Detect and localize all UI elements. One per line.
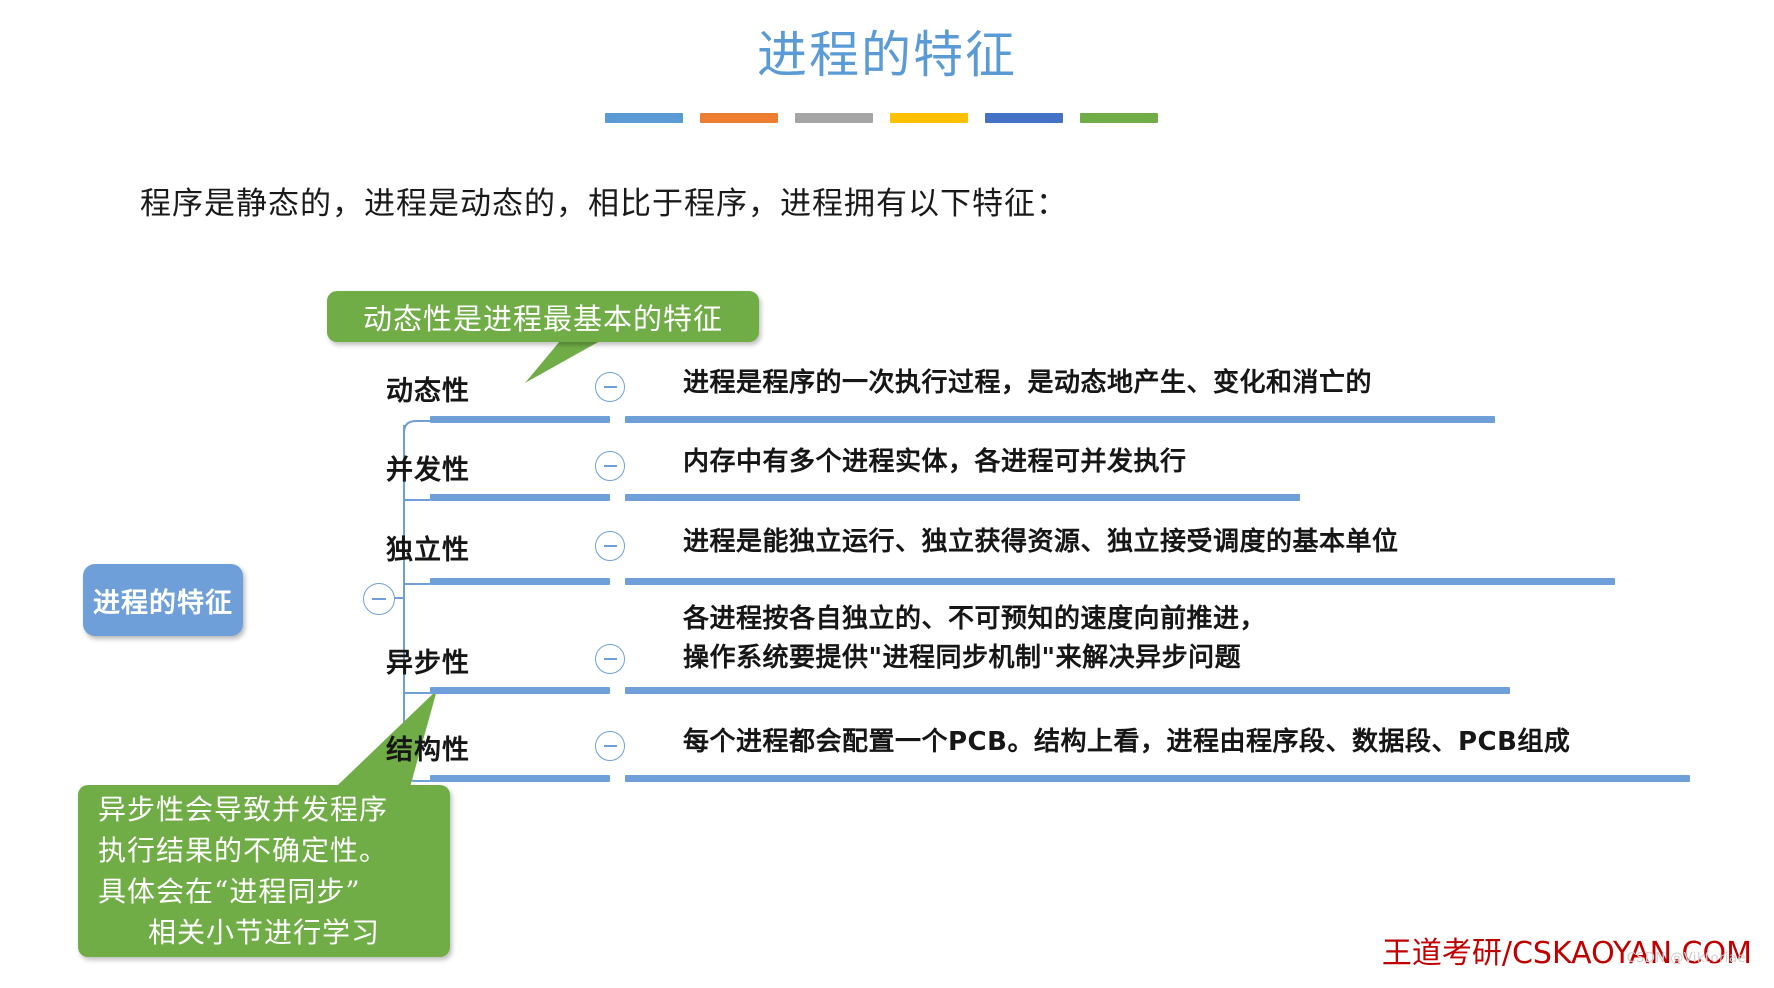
branch-label-5: 结构性 <box>330 728 470 767</box>
minus-circle-icon-2[interactable] <box>595 451 625 481</box>
callout-bottom-line-2: 执行结果的不确定性。 <box>78 830 450 871</box>
branch-label-3: 独立性 <box>330 528 470 567</box>
branch-underline-5b <box>625 775 1690 782</box>
branch-desc-3: 进程是能独立运行、独立获得资源、独立接受调度的基本单位 <box>683 524 1399 560</box>
branch-underline-1a <box>430 416 610 423</box>
branch-underline-3b <box>625 578 1615 585</box>
branch-desc-1: 进程是程序的一次执行过程，是动态地产生、变化和消亡的 <box>683 365 1372 401</box>
branch-desc-4-line2: 操作系统要提供"进程同步机制"来解决异步问题 <box>683 640 1241 676</box>
callout-bottom: 异步性会导致并发程序 执行结果的不确定性。 具体会在“进程同步” 相关小节进行学… <box>78 785 450 957</box>
branch-underline-2b <box>625 494 1300 501</box>
branch-underline-4b <box>625 687 1510 694</box>
accent-bar-gray <box>795 113 873 123</box>
minus-circle-icon-4[interactable] <box>595 644 625 674</box>
branch-underline-3a <box>430 578 610 585</box>
branch-underline-4a <box>430 687 610 694</box>
credit-watermark: CSDN @Viktoriae <box>1627 951 1746 966</box>
accent-bar-group <box>605 113 1158 123</box>
minus-circle-icon-1[interactable] <box>595 372 625 402</box>
lead-paragraph: 程序是静态的，进程是动态的，相比于程序，进程拥有以下特征： <box>140 178 1068 223</box>
page-title: 进程的特征 <box>0 28 1774 83</box>
branch-underline-5a <box>430 775 610 782</box>
accent-bar-blue <box>605 113 683 123</box>
accent-bar-yellow <box>890 113 968 123</box>
minus-circle-icon-5[interactable] <box>595 731 625 761</box>
branch-label-4: 异步性 <box>330 641 470 680</box>
minus-circle-icon-3[interactable] <box>595 531 625 561</box>
accent-bar-green <box>1080 113 1158 123</box>
callout-bottom-line-3: 具体会在“进程同步” <box>78 871 450 912</box>
accent-bar-navy <box>985 113 1063 123</box>
mindmap-root-node[interactable]: 进程的特征 <box>83 564 243 636</box>
branch-desc-2: 内存中有多个进程实体，各进程可并发执行 <box>683 444 1187 480</box>
branch-label-2: 并发性 <box>330 448 470 487</box>
callout-bottom-line-4: 相关小节进行学习 <box>78 912 450 953</box>
accent-bar-orange <box>700 113 778 123</box>
branch-underline-2a <box>430 494 610 501</box>
branch-desc-5: 每个进程都会配置一个PCB。结构上看，进程由程序段、数据段、PCB组成 <box>683 724 1570 760</box>
branch-desc-4-line1: 各进程按各自独立的、不可预知的速度向前推进， <box>683 601 1266 637</box>
callout-bottom-line-1: 异步性会导致并发程序 <box>78 789 450 830</box>
branch-label-1: 动态性 <box>330 369 470 408</box>
branch-underline-1b <box>625 416 1495 423</box>
slide-canvas: 进程的特征 程序是静态的，进程是动态的，相比于程序，进程拥有以下特征： 进程的特… <box>0 0 1774 988</box>
minus-circle-icon-root[interactable] <box>363 583 395 615</box>
callout-top: 动态性是进程最基本的特征 <box>327 291 759 342</box>
